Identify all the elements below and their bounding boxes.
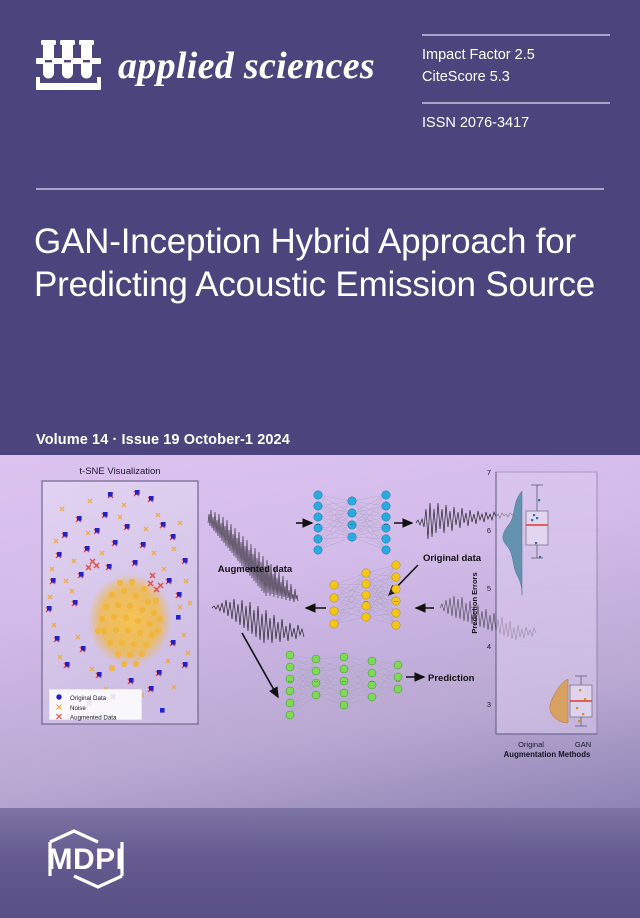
legend-label-noise: Noise [70, 705, 86, 712]
title-divider [36, 188, 604, 190]
mdpi-wordmark: MDPI [48, 843, 125, 876]
augmented-data-label: Augmented data [218, 564, 293, 575]
boxplot-ylabel: Prediction Errors [470, 572, 479, 633]
network-ellipsis: ... [393, 598, 398, 604]
gan-discriminator-network: ... ... [330, 561, 400, 629]
legend-marker-original [56, 694, 61, 699]
network-ellipsis: ... [288, 678, 293, 684]
boxplot-xlabel: Augmentation Methods [504, 750, 591, 759]
prediction-label: Prediction [428, 673, 475, 684]
network-ellipsis: ... [314, 678, 319, 684]
citescore: CiteScore 5.3 [422, 67, 610, 89]
boxplot-ytick: 3 [487, 700, 491, 709]
boxplot-ytick: 7 [487, 468, 491, 477]
network-ellipsis: ... [396, 678, 401, 684]
article-title: GAN-Inception Hybrid Approach for Predic… [34, 221, 614, 306]
issn: ISSN 2076-3417 [422, 104, 610, 131]
boxplot-ytick: 6 [487, 526, 491, 535]
network-ellipsis: ... [349, 521, 354, 527]
prediction-error-boxplot: 7 6 5 4 3 Prediction Errors [470, 468, 597, 759]
gan-generator-network: ... ... ... [314, 491, 390, 554]
cover-figure: t-SNE Visualization [0, 455, 640, 810]
network-ellipsis: ... [370, 678, 375, 684]
journal-branding: applied sciences [36, 36, 375, 96]
input-waveform [208, 510, 298, 602]
boxplot-xtick-gan: GAN [575, 740, 591, 749]
network-ellipsis: ... [383, 521, 388, 527]
tsne-title: t-SNE Visualization [79, 466, 160, 477]
journal-wordmark: applied sciences [118, 47, 375, 85]
box-original [526, 511, 548, 545]
network-ellipsis: ... [342, 678, 347, 684]
journal-metrics: Impact Factor 2.5 CiteScore 5.3 ISSN 207… [422, 34, 610, 131]
arrow-augmented-to-predictor [242, 633, 278, 697]
inception-prediction-network: ... ... ... ... ... [286, 651, 402, 719]
mdpi-hexagon-logo: MDPI [34, 828, 138, 895]
boxplot-xtick-original: Original [518, 740, 544, 749]
metrics-values: Impact Factor 2.5 CiteScore 5.3 [422, 36, 610, 102]
legend-label-original: Original Data [70, 695, 107, 702]
tsne-panel: t-SNE Visualization [42, 466, 198, 724]
augmented-data-waveform [212, 599, 304, 643]
impact-factor: Impact Factor 2.5 [422, 45, 610, 67]
original-data-label: Original data [423, 553, 482, 564]
legend-label-augmented: Augmented Data [70, 715, 117, 722]
journal-cover: applied sciences Impact Factor 2.5 CiteS… [0, 0, 640, 918]
test-tube-rack-icon [36, 36, 104, 96]
tsne-legend: Original Data Noise Augmented Data [49, 689, 142, 722]
boxplot-ytick: 4 [487, 642, 491, 651]
issue-line: Volume 14 · Issue 19 October-1 2024 [36, 432, 290, 448]
network-ellipsis: ... [363, 598, 368, 604]
cover-header: applied sciences Impact Factor 2.5 CiteS… [0, 0, 640, 160]
network-ellipsis: ... [315, 521, 320, 527]
boxplot-ytick: 5 [487, 584, 491, 593]
